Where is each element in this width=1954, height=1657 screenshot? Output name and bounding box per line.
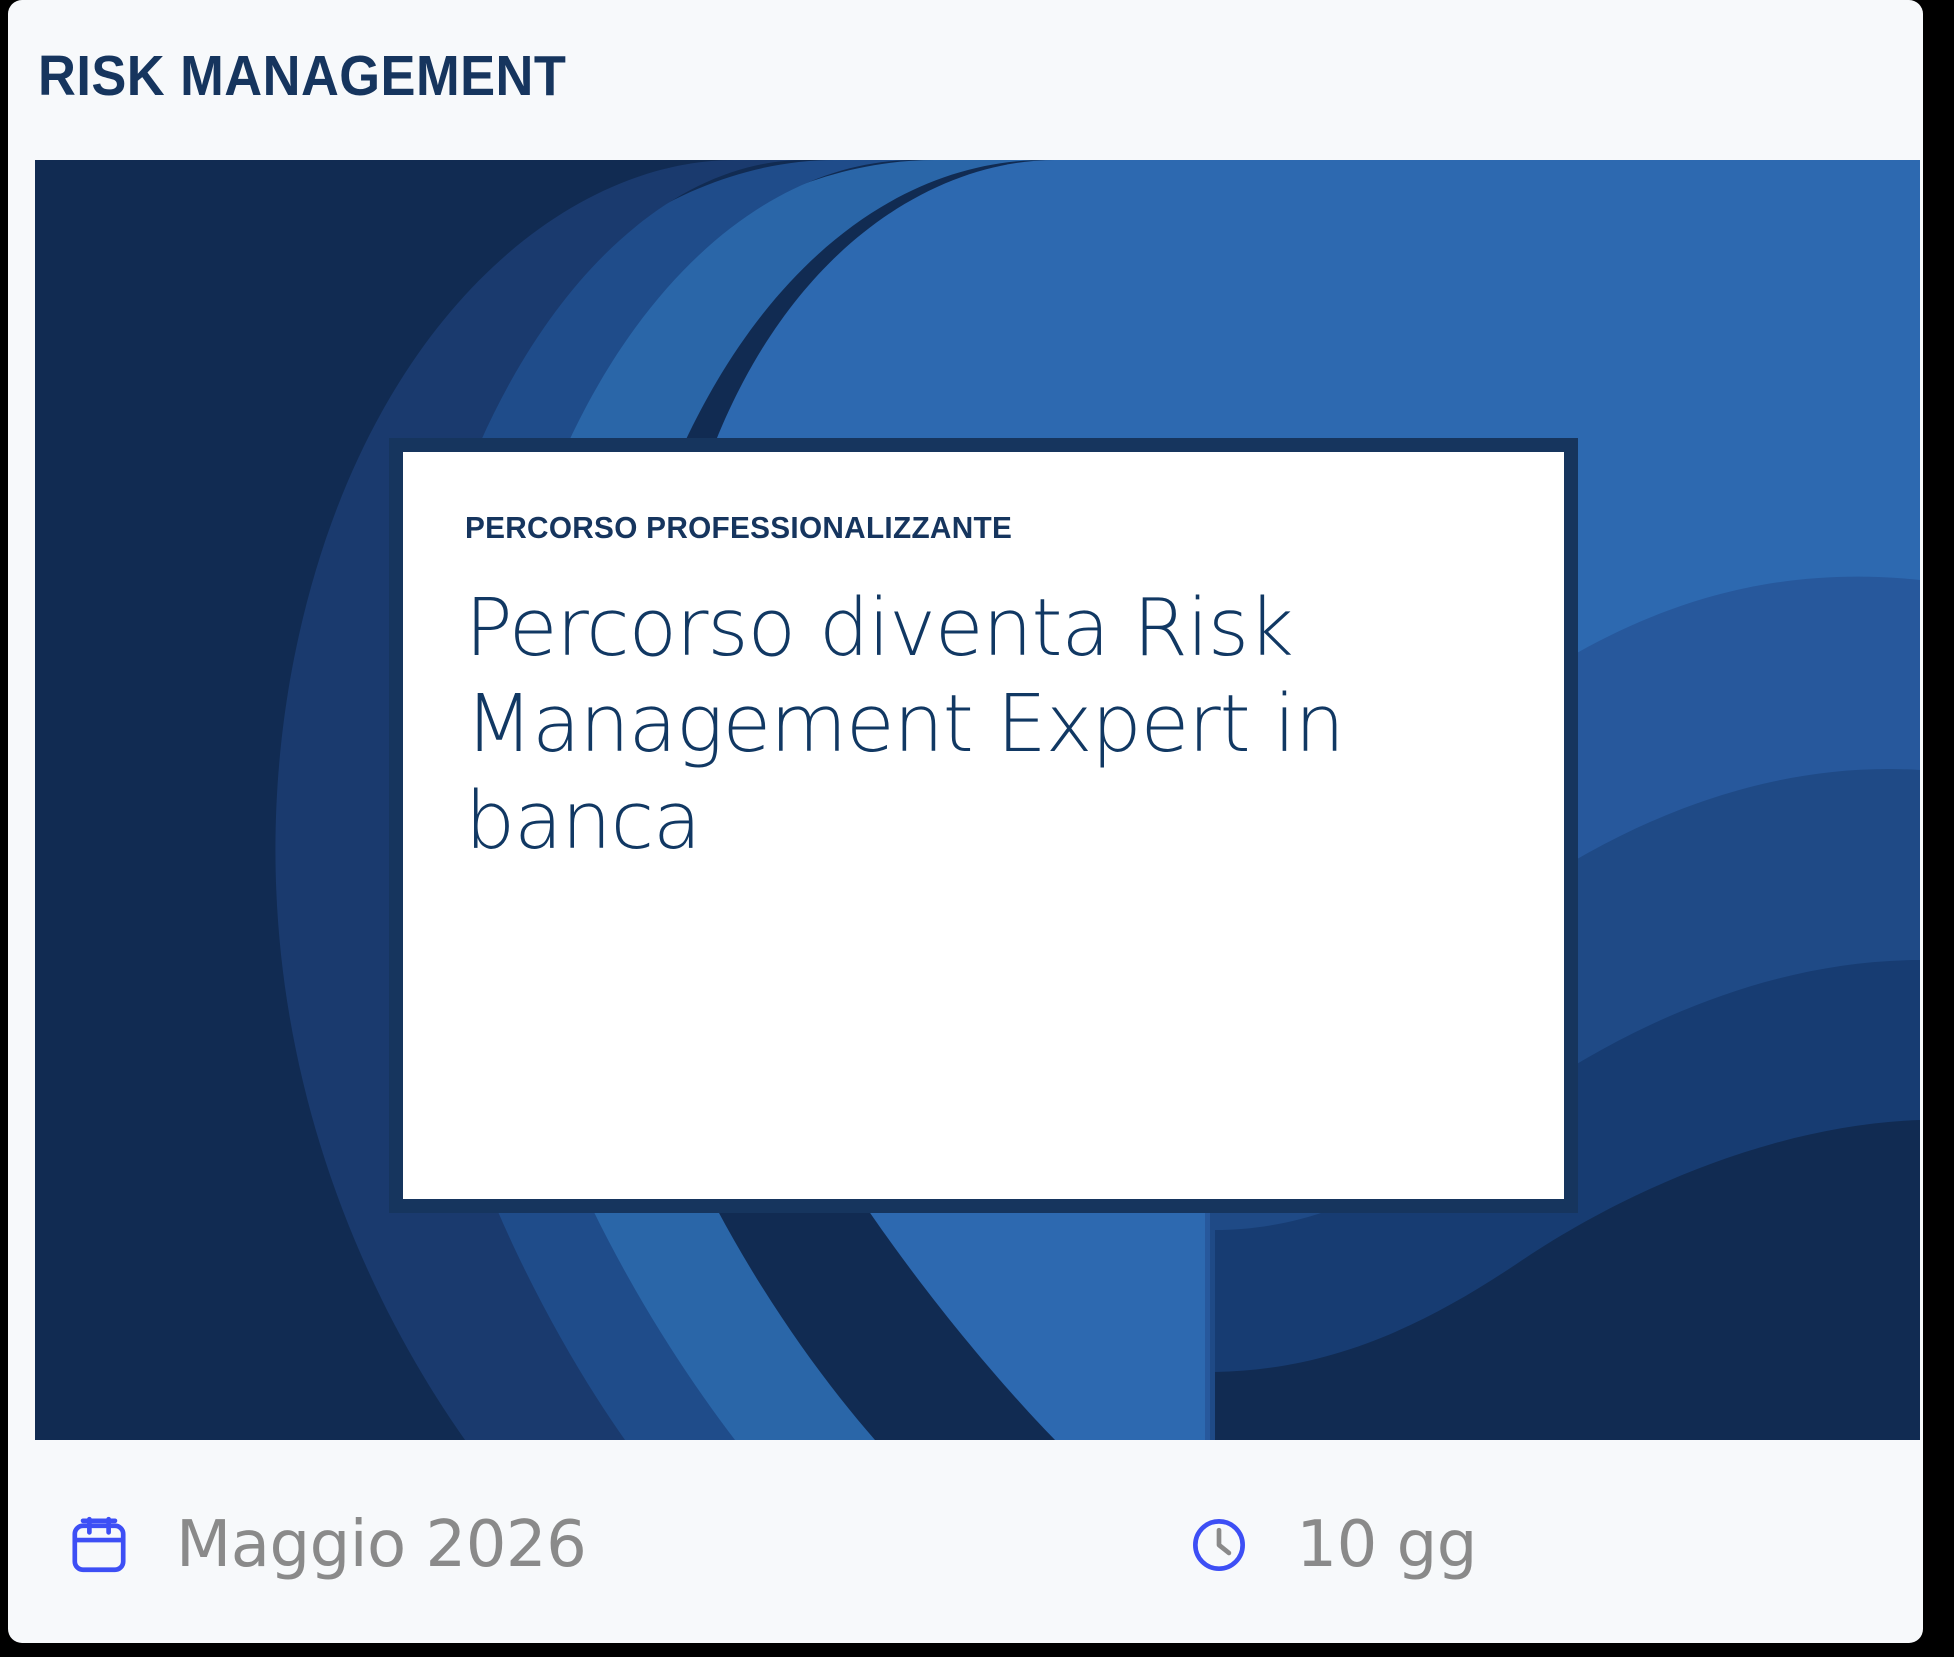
course-card[interactable]: RISK MANAGEMENT [8, 0, 1923, 1643]
panel-eyebrow-label: PERCORSO PROFESSIONALIZZANTE [465, 510, 1461, 546]
calendar-icon [66, 1512, 132, 1578]
meta-duration-value: 10 gg [1296, 1508, 1477, 1582]
course-title: Percorso diventa Risk Management Expert … [465, 580, 1502, 869]
hero-panel: PERCORSO PROFESSIONALIZZANTE Percorso di… [403, 452, 1564, 1199]
meta-date: Maggio 2026 [66, 1508, 586, 1582]
meta-date-value: Maggio 2026 [176, 1508, 586, 1582]
meta-duration: 10 gg [1186, 1508, 1477, 1582]
card-header: RISK MANAGEMENT [8, 0, 1923, 152]
hero-graphic: PERCORSO PROFESSIONALIZZANTE Percorso di… [35, 160, 1920, 1440]
page-title: RISK MANAGEMENT [38, 43, 566, 109]
clock-icon [1186, 1512, 1252, 1578]
hero-panel-frame: PERCORSO PROFESSIONALIZZANTE Percorso di… [389, 438, 1578, 1213]
card-footer: Maggio 2026 10 gg [8, 1446, 1923, 1643]
